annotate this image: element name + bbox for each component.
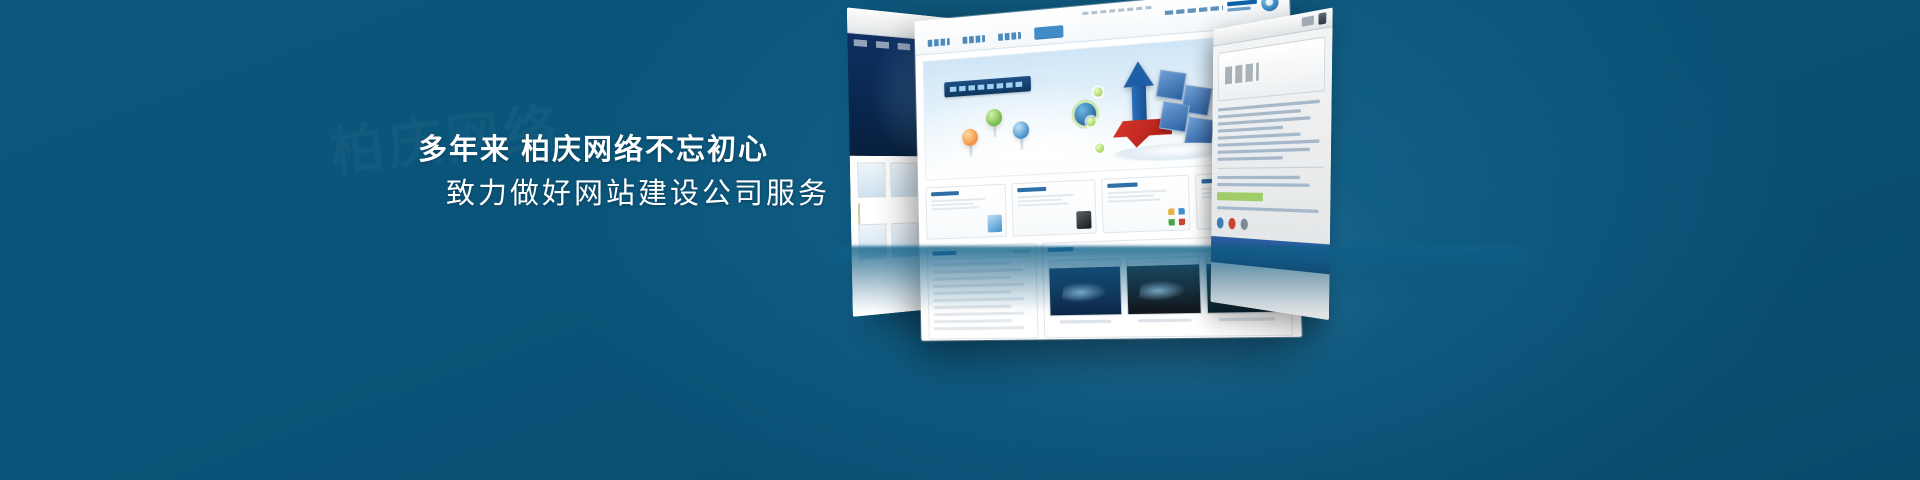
site-tagline-text <box>1082 6 1154 16</box>
hero-title-badge <box>944 76 1031 98</box>
news-item[interactable] <box>933 290 1011 295</box>
text-line <box>1217 183 1309 187</box>
card-title <box>1107 182 1137 188</box>
headline-line-2: 致力做好网站建设公司服务 <box>418 172 838 216</box>
news-panel-title <box>932 251 956 256</box>
news-more-link[interactable] <box>1013 249 1030 253</box>
social-icon-grey[interactable] <box>1241 218 1248 230</box>
feature-card-website[interactable] <box>925 184 1007 240</box>
product-thumbnail <box>858 223 887 259</box>
news-item[interactable] <box>934 312 1024 317</box>
nav-item-about[interactable] <box>963 35 986 44</box>
toolbar-button-icon <box>1302 16 1314 27</box>
news-item[interactable] <box>933 276 1011 281</box>
card-text-line <box>931 198 985 202</box>
right-content-body <box>1211 99 1332 275</box>
text-line <box>1217 176 1300 179</box>
news-panel-header <box>932 248 1030 259</box>
case-item[interactable] <box>1048 258 1122 324</box>
text-line <box>1218 148 1310 154</box>
cases-panel-title <box>1048 247 1074 252</box>
case-thumbnail <box>1048 258 1122 316</box>
arrow-up-icon <box>1123 60 1154 87</box>
logo-wordmark <box>1227 0 1257 11</box>
card-text-line <box>931 206 979 210</box>
headline-line-1: 多年来 柏庆网络不忘初心 <box>418 128 838 172</box>
news-item[interactable] <box>934 305 1012 310</box>
social-icons-row[interactable] <box>1217 217 1323 235</box>
logo-word-line <box>1227 6 1250 11</box>
cube-icon <box>1156 70 1187 101</box>
network-node-icon <box>1093 87 1102 97</box>
social-icon-blue[interactable] <box>1217 217 1224 228</box>
text-line <box>1218 132 1301 139</box>
news-item[interactable] <box>933 261 1011 266</box>
news-list-panel <box>927 243 1039 340</box>
cube-icon <box>1159 101 1190 132</box>
product-thumbnail <box>890 163 918 198</box>
highlight-bar <box>1217 192 1263 201</box>
left-tag-badge <box>858 203 860 224</box>
logo-mark-icon <box>1261 0 1279 12</box>
card-title <box>931 191 958 196</box>
card-text-line <box>1017 194 1073 199</box>
website-screenshots-showcase <box>820 0 1520 480</box>
app-icon <box>1318 12 1326 25</box>
phone-icon <box>1076 211 1091 229</box>
news-item[interactable] <box>933 283 1023 288</box>
news-item[interactable] <box>934 319 1012 323</box>
news-item[interactable] <box>933 268 1023 274</box>
right-banner-block <box>1218 36 1325 101</box>
divider <box>1217 167 1323 169</box>
case-caption <box>1060 320 1112 324</box>
card-title <box>1017 187 1046 192</box>
product-thumbnail <box>891 222 919 258</box>
case-thumbnail <box>1125 256 1202 315</box>
case-caption <box>1137 318 1191 322</box>
headline-block: 多年来 柏庆网络不忘初心 致力做好网站建设公司服务 <box>418 128 838 216</box>
card-text-line <box>1108 198 1161 202</box>
site-logo[interactable] <box>1227 0 1279 15</box>
hero-banner: 柏庆网络 多年来 柏庆网络不忘初心 致力做好网站建设公司服务 <box>0 0 1920 480</box>
case-caption <box>1218 317 1274 321</box>
text-line <box>1218 100 1320 112</box>
logo-word-line <box>1227 0 1257 6</box>
nav-item-home[interactable] <box>928 38 950 47</box>
nav-item-services[interactable] <box>998 31 1021 40</box>
text-line <box>1218 116 1310 125</box>
card-text-line <box>1018 202 1068 206</box>
nav-item-cases-active[interactable] <box>1034 25 1063 40</box>
site-slogan-text <box>1165 6 1223 15</box>
right-website-screenshot <box>1211 8 1333 321</box>
text-line <box>1218 156 1283 161</box>
feature-card-system[interactable] <box>1101 175 1190 234</box>
site-navigation[interactable] <box>928 25 1064 49</box>
right-footer-bar <box>1211 236 1330 274</box>
social-icon-red[interactable] <box>1229 218 1236 230</box>
text-line <box>1218 126 1283 133</box>
document-icon <box>987 215 1002 233</box>
text-line <box>1218 139 1320 146</box>
news-item[interactable] <box>933 297 1023 302</box>
card-text-line <box>1108 190 1167 195</box>
text-line <box>1217 206 1318 213</box>
case-item[interactable] <box>1125 256 1202 323</box>
feature-card-mobile[interactable] <box>1011 179 1096 236</box>
news-item[interactable] <box>934 326 1024 330</box>
grid-squares-icon <box>1168 208 1185 226</box>
product-thumbnail <box>857 162 886 197</box>
